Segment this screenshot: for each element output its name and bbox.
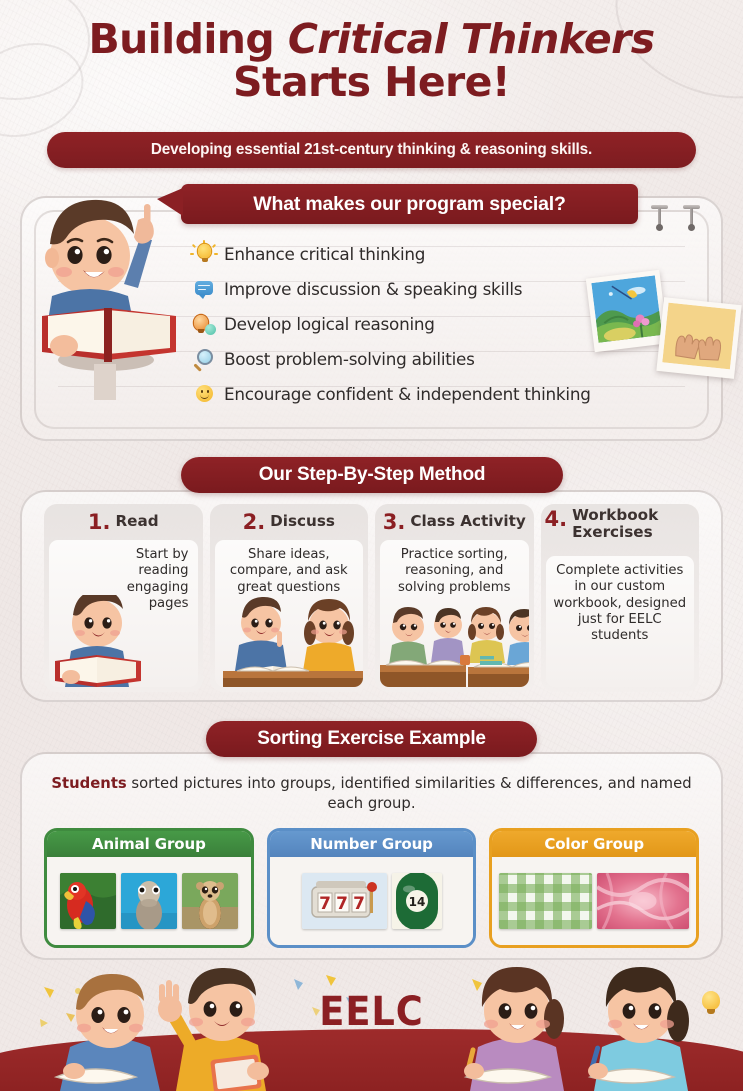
- child-illustration: [448, 965, 588, 1091]
- sorting-panel: Students sorted pictures into groups, id…: [20, 752, 723, 960]
- step-description: Practice sorting, reasoning, and solving…: [380, 540, 529, 596]
- step-number: 2.: [243, 510, 266, 534]
- method-steps-list: 1. Read Start by reading engaging pages: [44, 504, 699, 692]
- slot-machine-777-photo: 7 7 7: [302, 873, 387, 929]
- green-gingham-swatch: [499, 873, 591, 929]
- spiral-binding-icon: [688, 203, 695, 229]
- step-number: 4.: [545, 507, 568, 531]
- sorting-tab-label: Sorting Exercise Example: [257, 728, 486, 750]
- spiral-binding-icon: [656, 203, 663, 229]
- meerkat-photo: [182, 873, 238, 929]
- feature-item: Encourage confident & independent thinki…: [192, 376, 713, 411]
- step-header: 1. Read: [44, 504, 203, 540]
- lightbulb-icon: [192, 241, 224, 267]
- features-tab: What makes our program special?: [181, 184, 638, 224]
- step-title: Read: [115, 513, 158, 530]
- idea-bulb-icon: [192, 311, 224, 337]
- speech-bubble-icon: [192, 276, 224, 302]
- child-illustration: [574, 965, 714, 1091]
- title-line-1-emphasis: Critical Thinkers: [288, 15, 655, 63]
- feature-label: Encourage confident & independent thinki…: [224, 384, 591, 404]
- group-body: [492, 857, 696, 945]
- magnifier-icon: [192, 346, 224, 372]
- subtitle-text: Developing essential 21st-century thinki…: [151, 141, 592, 159]
- svg-text:14: 14: [408, 895, 425, 909]
- sorting-description: Students sorted pictures into groups, id…: [46, 774, 697, 814]
- features-tab-label: What makes our program special?: [253, 193, 565, 216]
- parrot-photo: [60, 873, 116, 929]
- svg-text:7: 7: [319, 894, 331, 914]
- method-step-card: 4. Workbook Exercises Complete activitie…: [541, 504, 700, 692]
- step-body: Complete activities in our custom workbo…: [546, 556, 695, 687]
- ostrich-photo: [121, 873, 177, 929]
- method-step-card: 3. Class Activity Practice sorting, reas…: [375, 504, 534, 692]
- method-tab-label: Our Step-By-Step Method: [259, 464, 486, 486]
- step-title: Discuss: [270, 513, 335, 530]
- step-body: Share ideas, compare, and ask great ques…: [215, 540, 364, 687]
- page-title: Building Critical Thinkers Starts Here!: [0, 18, 743, 103]
- group-header: Number Group: [270, 831, 474, 857]
- group-label: Number Group: [310, 835, 433, 853]
- feature-label: Enhance critical thinking: [224, 244, 425, 264]
- pink-satin-swatch: [597, 873, 689, 929]
- step-description: Start by reading engaging pages: [49, 540, 198, 612]
- sorting-tab: Sorting Exercise Example: [206, 721, 537, 757]
- footer: EELC: [0, 961, 743, 1091]
- sorting-description-rest: sorted pictures into groups, identified …: [127, 775, 692, 812]
- sorting-groups-list: Animal Group: [44, 828, 699, 948]
- feature-label: Boost problem-solving abilities: [224, 349, 475, 369]
- step-body: Practice sorting, reasoning, and solving…: [380, 540, 529, 687]
- subtitle-banner: Developing essential 21st-century thinki…: [47, 132, 696, 168]
- group-card-number: Number Group 7 7 7: [267, 828, 477, 948]
- poster-background: Building Critical Thinkers Starts Here! …: [0, 0, 743, 1091]
- step-number: 1.: [88, 510, 111, 534]
- group-label: Color Group: [544, 835, 644, 853]
- group-body: [47, 857, 251, 945]
- step-description: Complete activities in our custom workbo…: [546, 556, 695, 645]
- step-number: 3.: [383, 510, 406, 534]
- group-label: Animal Group: [92, 835, 206, 853]
- step-title: Class Activity: [410, 513, 525, 530]
- hands-photo: [656, 297, 741, 379]
- group-header: Animal Group: [47, 831, 251, 857]
- smiley-icon: [192, 381, 224, 407]
- group-card-animal: Animal Group: [44, 828, 254, 948]
- method-step-card: 1. Read Start by reading engaging pages: [44, 504, 203, 692]
- svg-text:7: 7: [336, 894, 348, 914]
- group-header: Color Group: [492, 831, 696, 857]
- feature-item: Enhance critical thinking: [192, 236, 713, 271]
- method-step-card: 2. Discuss Share ideas, compare, and ask…: [210, 504, 369, 692]
- boy-reading-illustration: [28, 188, 193, 403]
- group-body: 7 7 7 14: [270, 857, 474, 945]
- step-header: 4. Workbook Exercises: [541, 504, 700, 556]
- feature-label: Improve discussion & speaking skills: [224, 279, 522, 299]
- step-title: Workbook Exercises: [572, 507, 695, 541]
- method-panel: 1. Read Start by reading engaging pages: [20, 490, 723, 702]
- title-line-1-plain: Building: [88, 15, 287, 63]
- lightbulb-decoration-icon: [699, 989, 723, 1019]
- step-description: Share ideas, compare, and ask great ques…: [215, 540, 364, 596]
- method-tab: Our Step-By-Step Method: [181, 457, 563, 493]
- step-header: 2. Discuss: [210, 504, 369, 540]
- landscape-photo: [586, 270, 668, 352]
- sorting-description-lead: Students: [51, 775, 126, 792]
- billiard-ball-14-photo: 14: [392, 873, 442, 929]
- child-illustration: [150, 961, 290, 1091]
- group-card-color: Color Group: [489, 828, 699, 948]
- step-body: Start by reading engaging pages: [49, 540, 198, 687]
- features-panel: What makes our program special?: [20, 196, 723, 441]
- title-line-2: Starts Here!: [0, 61, 743, 104]
- svg-text:7: 7: [353, 894, 365, 914]
- four-kids-at-desks-illustration: [380, 595, 529, 687]
- step-header: 3. Class Activity: [375, 504, 534, 540]
- feature-label: Develop logical reasoning: [224, 314, 435, 334]
- two-kids-discussing-illustration: [215, 595, 364, 687]
